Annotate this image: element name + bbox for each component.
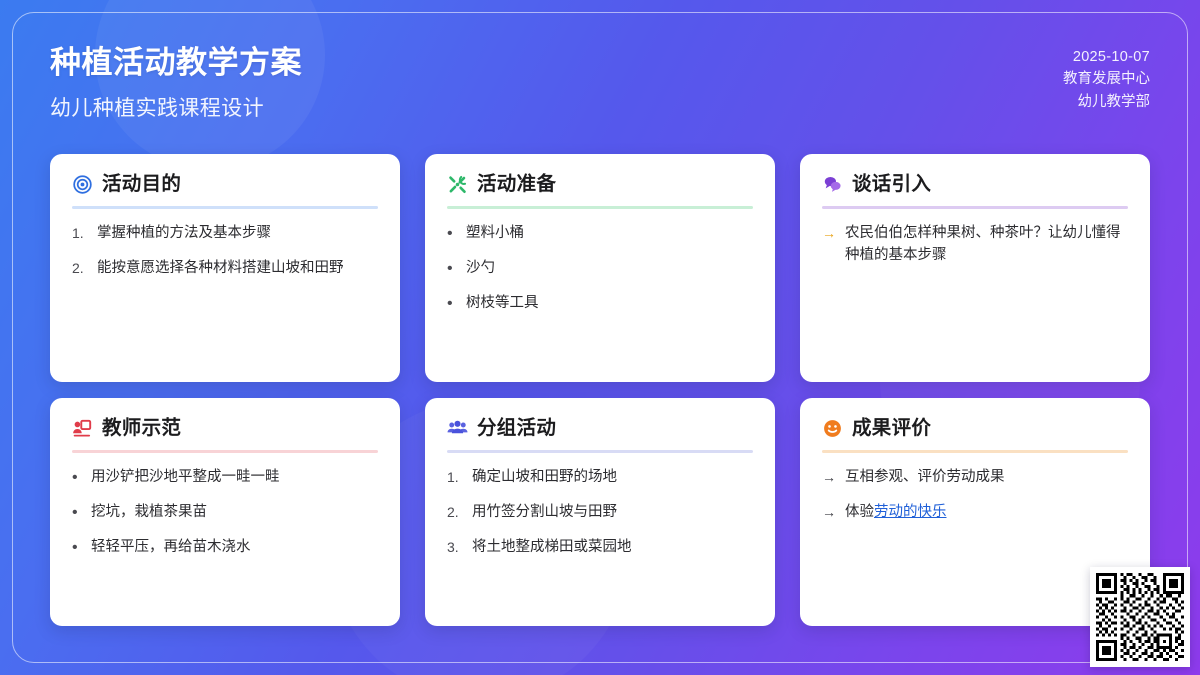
card-title: 活动准备 [477, 174, 556, 195]
card-rule [822, 206, 1128, 209]
card-rule [72, 206, 378, 209]
list-item: • 轻轻平压，再给苗木浇水 [72, 537, 378, 559]
list-item-text: 农民伯伯怎样种果树、种茶叶？让幼儿懂得种植的基本步骤 [845, 223, 1128, 267]
card-header: 分组活动 [447, 418, 753, 445]
meta-date: 2025-10-07 [1063, 46, 1150, 68]
header-meta: 2025-10-07 教育发展中心 幼儿教学部 [1063, 40, 1150, 113]
list-marker: → [822, 467, 836, 488]
list-marker: 1. [72, 223, 88, 244]
card-list: → 互相参观、评价劳动成果 → 体验劳动的快乐 [822, 467, 1128, 524]
list-item: 2. 能按意愿选择各种材料搭建山坡和田野 [72, 258, 378, 280]
list-marker: • [72, 467, 82, 489]
list-marker: 2. [72, 258, 88, 279]
page-subtitle: 幼儿种植实践课程设计 [50, 92, 302, 122]
labor-happiness-link[interactable]: 劳动的快乐 [874, 504, 947, 520]
list-item-text-prefix: 体验 [845, 504, 874, 520]
page-title: 种植活动教学方案 [50, 44, 302, 83]
list-item: • 沙勺 [447, 258, 753, 280]
card-title: 成果评价 [852, 418, 931, 439]
list-item-text: 轻轻平压，再给苗木浇水 [91, 537, 378, 559]
card-title: 教师示范 [102, 418, 181, 439]
qr-code[interactable] [1090, 567, 1190, 667]
card-rule [822, 450, 1128, 453]
list-item-text: 掌握种植的方法及基本步骤 [97, 223, 378, 245]
header-titles: 种植活动教学方案 幼儿种植实践课程设计 [50, 40, 302, 122]
card-header: 教师示范 [72, 418, 378, 445]
list-item-text: 沙勺 [466, 258, 753, 280]
list-item-text: 树枝等工具 [466, 293, 753, 315]
list-marker: • [72, 502, 82, 524]
card-list: • 用沙铲把沙地平整成一畦一畦 • 挖坑，栽植茶果苗 • 轻轻平压，再给苗木浇水 [72, 467, 378, 558]
card-rule [72, 450, 378, 453]
card-group-activity[interactable]: 分组活动 1. 确定山坡和田野的场地 2. 用竹签分割山坡与田野 3. 将土地整… [425, 398, 775, 626]
card-header: 成果评价 [822, 418, 1128, 445]
list-item: • 挖坑，栽植茶果苗 [72, 502, 378, 524]
card-talk-introduction[interactable]: 谈话引入 → 农民伯伯怎样种果树、种茶叶？让幼儿懂得种植的基本步骤 [800, 154, 1150, 382]
list-item: → 互相参观、评价劳动成果 [822, 467, 1128, 489]
list-item: → 体验劳动的快乐 [822, 502, 1128, 524]
card-teacher-demonstration[interactable]: 教师示范 • 用沙铲把沙地平整成一畦一畦 • 挖坑，栽植茶果苗 • 轻轻平压，再… [50, 398, 400, 626]
tools-icon [447, 174, 468, 195]
list-marker: 3. [447, 537, 463, 558]
qr-code-image [1096, 573, 1184, 661]
speech-bubbles-icon [822, 174, 843, 195]
card-grid: 活动目的 1. 掌握种植的方法及基本步骤 2. 能按意愿选择各种材料搭建山坡和田… [50, 154, 1150, 626]
smiley-icon [822, 418, 843, 439]
card-header: 活动准备 [447, 174, 753, 201]
list-marker: • [72, 537, 82, 559]
card-title: 活动目的 [102, 174, 181, 195]
card-activity-goal[interactable]: 活动目的 1. 掌握种植的方法及基本步骤 2. 能按意愿选择各种材料搭建山坡和田… [50, 154, 400, 382]
card-activity-preparation[interactable]: 活动准备 • 塑料小桶 • 沙勺 • 树枝等工具 [425, 154, 775, 382]
slide-root: 种植活动教学方案 幼儿种植实践课程设计 2025-10-07 教育发展中心 幼儿… [0, 0, 1200, 675]
card-list: → 农民伯伯怎样种果树、种茶叶？让幼儿懂得种植的基本步骤 [822, 223, 1128, 267]
list-item-text: 用沙铲把沙地平整成一畦一畦 [91, 467, 378, 489]
list-item: → 农民伯伯怎样种果树、种茶叶？让幼儿懂得种植的基本步骤 [822, 223, 1128, 267]
list-marker: 1. [447, 467, 463, 488]
list-marker: → [822, 502, 836, 523]
card-title: 分组活动 [477, 418, 556, 439]
list-item-text: 用竹签分割山坡与田野 [472, 502, 753, 524]
list-marker: • [447, 223, 457, 245]
list-item-text: 互相参观、评价劳动成果 [845, 467, 1128, 489]
meta-department: 幼儿教学部 [1063, 91, 1150, 113]
presenter-icon [72, 418, 93, 439]
list-marker: • [447, 258, 457, 280]
card-header: 谈话引入 [822, 174, 1128, 201]
list-item-text: 能按意愿选择各种材料搭建山坡和田野 [97, 258, 378, 280]
card-title: 谈话引入 [852, 174, 931, 195]
list-item-text: 体验劳动的快乐 [845, 502, 1128, 524]
card-rule [447, 206, 753, 209]
target-icon [72, 174, 93, 195]
list-marker: → [822, 223, 836, 244]
card-list: • 塑料小桶 • 沙勺 • 树枝等工具 [447, 223, 753, 314]
meta-organization: 教育发展中心 [1063, 68, 1150, 90]
list-marker: 2. [447, 502, 463, 523]
card-rule [447, 450, 753, 453]
list-item-text: 将土地整成梯田或菜园地 [472, 537, 753, 559]
list-item: • 树枝等工具 [447, 293, 753, 315]
list-item: • 塑料小桶 [447, 223, 753, 245]
card-list: 1. 确定山坡和田野的场地 2. 用竹签分割山坡与田野 3. 将土地整成梯田或菜… [447, 467, 753, 558]
list-item: 1. 掌握种植的方法及基本步骤 [72, 223, 378, 245]
card-header: 活动目的 [72, 174, 378, 201]
people-group-icon [447, 418, 468, 439]
slide-header: 种植活动教学方案 幼儿种植实践课程设计 2025-10-07 教育发展中心 幼儿… [50, 40, 1150, 140]
list-item-text: 挖坑，栽植茶果苗 [91, 502, 378, 524]
list-item-text: 确定山坡和田野的场地 [472, 467, 753, 489]
list-marker: • [447, 293, 457, 315]
list-item: 1. 确定山坡和田野的场地 [447, 467, 753, 489]
list-item-text: 塑料小桶 [466, 223, 753, 245]
card-list: 1. 掌握种植的方法及基本步骤 2. 能按意愿选择各种材料搭建山坡和田野 [72, 223, 378, 280]
list-item: 3. 将土地整成梯田或菜园地 [447, 537, 753, 559]
list-item: • 用沙铲把沙地平整成一畦一畦 [72, 467, 378, 489]
list-item: 2. 用竹签分割山坡与田野 [447, 502, 753, 524]
